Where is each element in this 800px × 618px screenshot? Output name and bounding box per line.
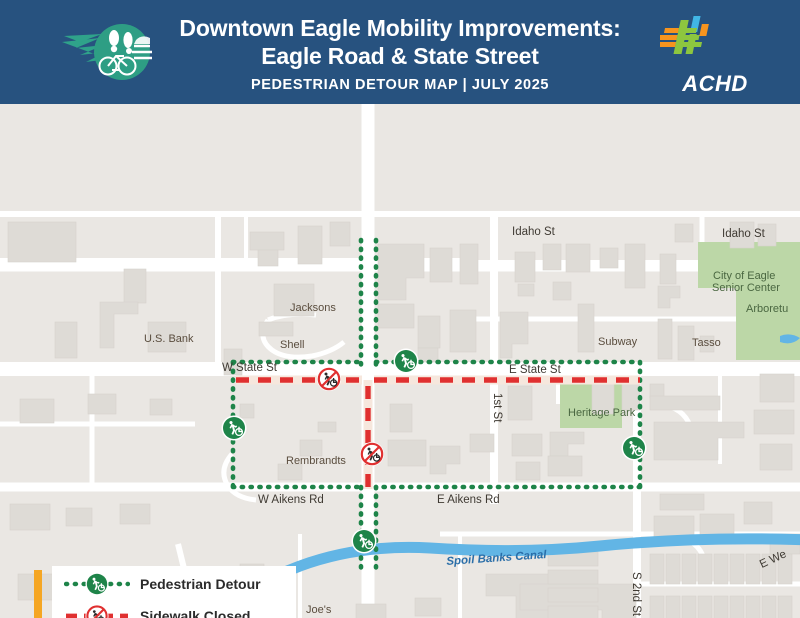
page-title-line1: Downtown Eagle Mobility Improvements: [179,15,620,42]
eagle-mobility-logo [60,12,160,92]
legend-sample-pedestrian-detour [64,572,130,596]
pedestrian-detour-map[interactable]: Idaho StIdaho StW State StE State St1st … [0,104,800,618]
pedestrian-detour-icon [220,414,248,442]
achd-wordmark: ACHD [660,71,770,97]
legend-accent-bar [34,570,42,618]
page-title-line2: Eagle Road & State Street [179,43,620,70]
page-header: Downtown Eagle Mobility Improvements: Ea… [0,0,800,104]
page-subtitle: PEDESTRIAN DETOUR MAP | JULY 2025 [179,77,620,93]
sidewalk-closed-icon [316,366,342,392]
legend-item-pedestrian-detour: Pedestrian Detour [64,572,296,596]
pedestrian-detour-icon [392,347,420,375]
sidewalk-closed-icon [359,441,385,467]
map-legend: Pedestrian Detour Sidewalk Closed [52,566,296,618]
legend-label-sidewalk-closed: Sidewalk Closed [140,608,250,618]
legend-sample-sidewalk-closed [64,604,130,618]
pedestrian-detour-icon [620,434,648,462]
legend-label-pedestrian-detour: Pedestrian Detour [140,576,261,592]
achd-logo: ACHD [660,14,770,92]
pedestrian-detour-icon [350,527,378,555]
header-title-block: Downtown Eagle Mobility Improvements: Ea… [179,11,620,92]
legend-item-sidewalk-closed: Sidewalk Closed [64,604,296,618]
